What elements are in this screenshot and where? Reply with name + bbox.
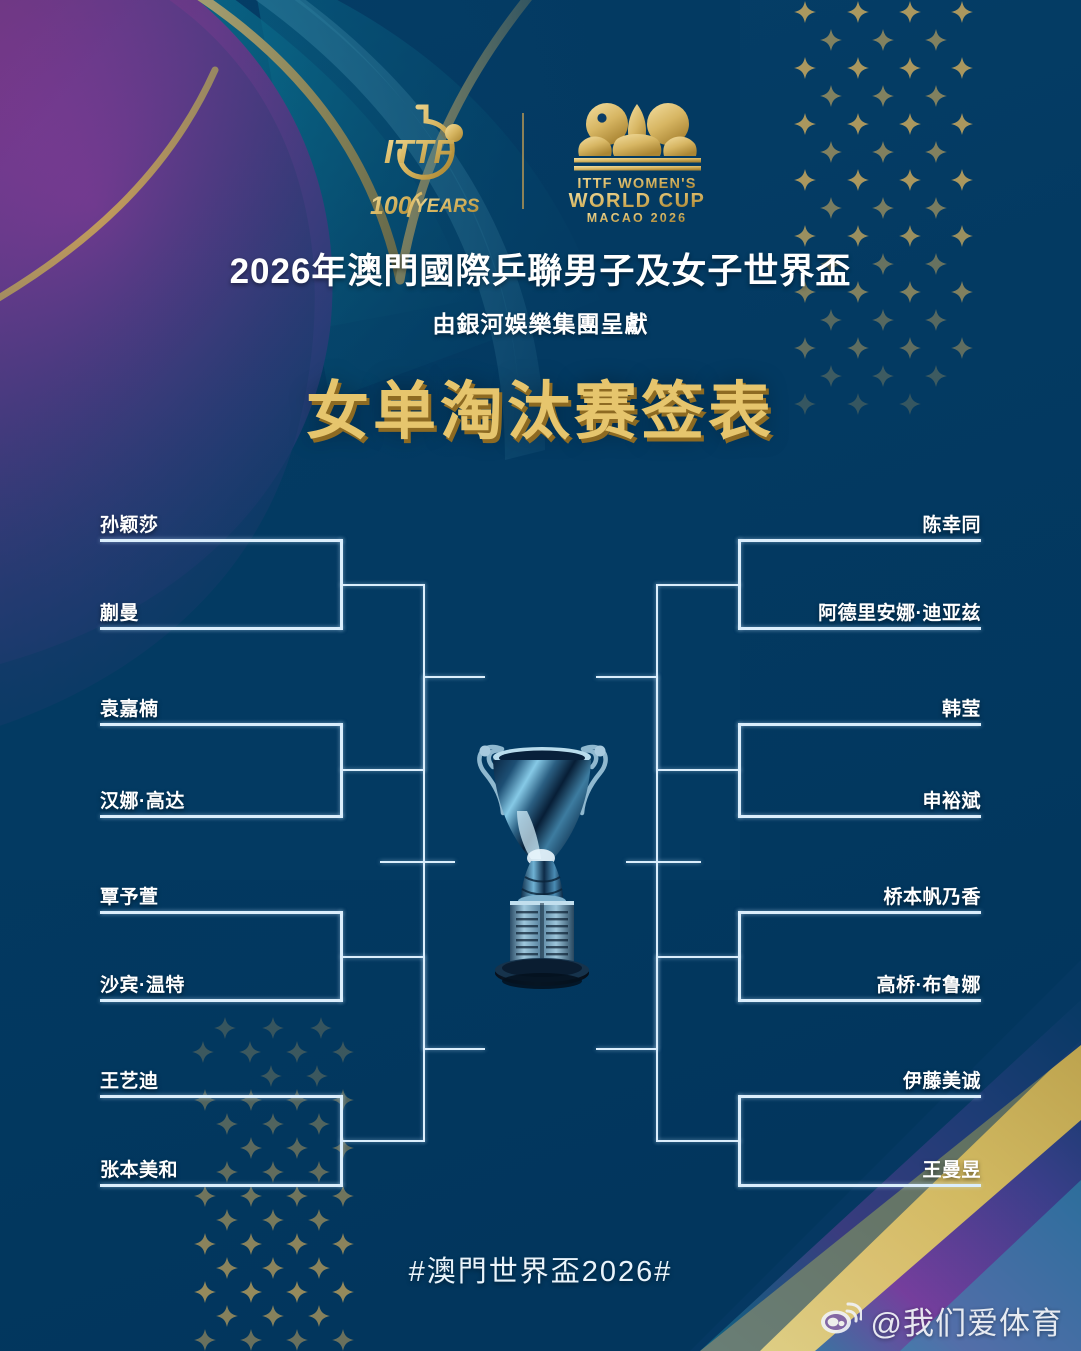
tournament-bracket: 孙颖莎 蒯曼 袁嘉楠 汉娜·高达 覃予萱 沙宾·温特 王艺迪 张本美和 陈幸同 … — [0, 0, 1081, 1351]
player-right-8: 王曼昱 — [922, 1155, 981, 1182]
bracket-line-rsf4 — [656, 1140, 741, 1142]
poster-canvas: ITTF 100 YEARS — [0, 0, 1081, 1351]
player-left-3: 袁嘉楠 — [100, 694, 159, 721]
player-right-1: 陈幸同 — [922, 510, 981, 537]
player-right-2: 阿德里安娜·迪亚兹 — [818, 598, 981, 625]
bracket-line-l2 — [100, 627, 343, 630]
bracket-line-lcenter — [380, 861, 455, 863]
bracket-line-rcenter — [626, 861, 701, 863]
player-right-3: 韩莹 — [942, 694, 981, 721]
bracket-line-rfinal-top — [596, 676, 658, 678]
trophy-image — [455, 715, 630, 1005]
bracket-line-r5 — [738, 911, 981, 914]
player-left-8: 张本美和 — [100, 1155, 178, 1182]
bracket-line-r8 — [738, 1184, 981, 1187]
player-left-1: 孙颖莎 — [100, 510, 159, 537]
player-right-5: 桥本帆乃香 — [883, 882, 981, 909]
bracket-line-r3 — [738, 723, 981, 726]
bracket-line-l7 — [100, 1095, 343, 1098]
bracket-line-lsf2 — [340, 769, 425, 771]
hashtag: #澳門世界盃2026# — [0, 1248, 1081, 1290]
watermark-handle: @我们爱体育 — [871, 1298, 1063, 1343]
bracket-line-lsf3 — [340, 956, 425, 958]
bracket-line-l1 — [100, 539, 343, 542]
bracket-line-r1 — [738, 539, 981, 542]
bracket-line-l3 — [100, 723, 343, 726]
bracket-line-lfinal-top — [423, 676, 485, 678]
bracket-line-lsf4 — [340, 1140, 425, 1142]
bracket-line-l6 — [100, 999, 343, 1002]
player-right-4: 申裕斌 — [922, 786, 981, 813]
player-left-4: 汉娜·高达 — [100, 786, 185, 813]
player-left-7: 王艺迪 — [100, 1066, 159, 1093]
bracket-line-l8 — [100, 1184, 343, 1187]
bracket-line-rfinal-bot — [596, 1048, 658, 1050]
player-right-7: 伊藤美诚 — [903, 1066, 981, 1093]
bracket-line-l4 — [100, 815, 343, 818]
player-left-6: 沙宾·温特 — [100, 970, 185, 997]
bracket-line-rsf2 — [656, 769, 741, 771]
bracket-line-r2 — [738, 627, 981, 630]
bracket-line-rsf1 — [656, 584, 741, 586]
player-left-5: 覃予萱 — [100, 882, 159, 909]
bracket-line-l5 — [100, 911, 343, 914]
bracket-line-lfinal-bot — [423, 1048, 485, 1050]
watermark: @我们爱体育 — [820, 1298, 1063, 1343]
bracket-line-r4 — [738, 815, 981, 818]
bracket-line-lsf1 — [340, 584, 425, 586]
weibo-icon — [820, 1300, 862, 1341]
bracket-line-r6 — [738, 999, 981, 1002]
bracket-line-r7 — [738, 1095, 981, 1098]
player-right-6: 高桥·布鲁娜 — [877, 970, 981, 997]
bracket-line-rsf3 — [656, 956, 741, 958]
player-left-2: 蒯曼 — [100, 598, 139, 625]
